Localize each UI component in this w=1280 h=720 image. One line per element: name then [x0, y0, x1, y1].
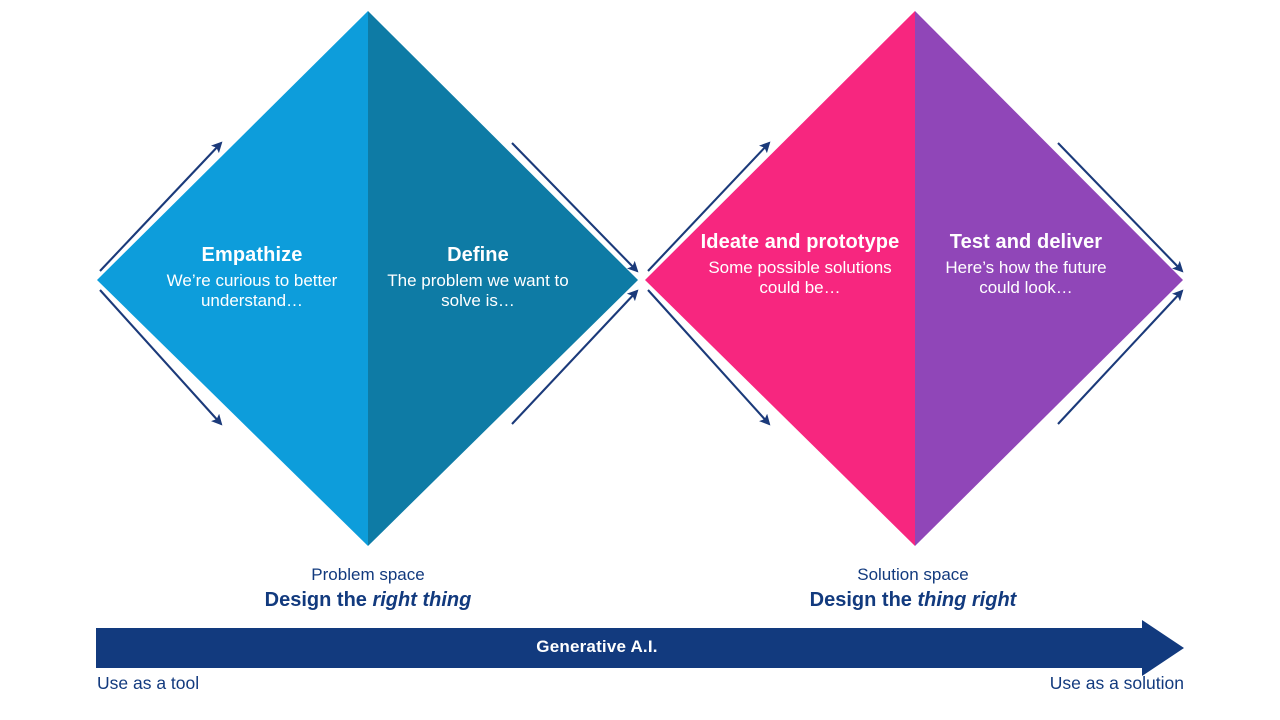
diagram-canvas: Empathize We’re curious to better unders… — [0, 0, 1280, 720]
endpoint-label-use-as-a-tool: Use as a tool — [97, 673, 199, 694]
diamond-problem-space — [97, 11, 638, 546]
generative-ai-arrow-bar — [96, 620, 1184, 676]
diamond-solution-space — [645, 11, 1183, 546]
caption-solution-space: Solution space Design the thing right — [763, 564, 1063, 613]
diamond-half-ideate — [645, 11, 915, 546]
diamond-half-empathize — [97, 11, 368, 546]
problem-space-motto-emphasis: right thing — [372, 589, 471, 611]
problem-space-motto-prefix: Design the — [265, 589, 373, 611]
endpoint-label-use-as-a-solution: Use as a solution — [1050, 673, 1184, 694]
double-diamond-svg — [0, 0, 1280, 720]
diamond-half-define — [368, 11, 638, 546]
problem-space-name: Problem space — [218, 564, 518, 586]
problem-space-motto: Design the right thing — [218, 587, 518, 613]
solution-space-motto: Design the thing right — [763, 587, 1063, 613]
solution-space-motto-emphasis: thing right — [917, 589, 1016, 611]
solution-space-motto-prefix: Design the — [810, 589, 918, 611]
caption-problem-space: Problem space Design the right thing — [218, 564, 518, 613]
solution-space-name: Solution space — [763, 564, 1063, 586]
diamond-half-test — [915, 11, 1183, 546]
